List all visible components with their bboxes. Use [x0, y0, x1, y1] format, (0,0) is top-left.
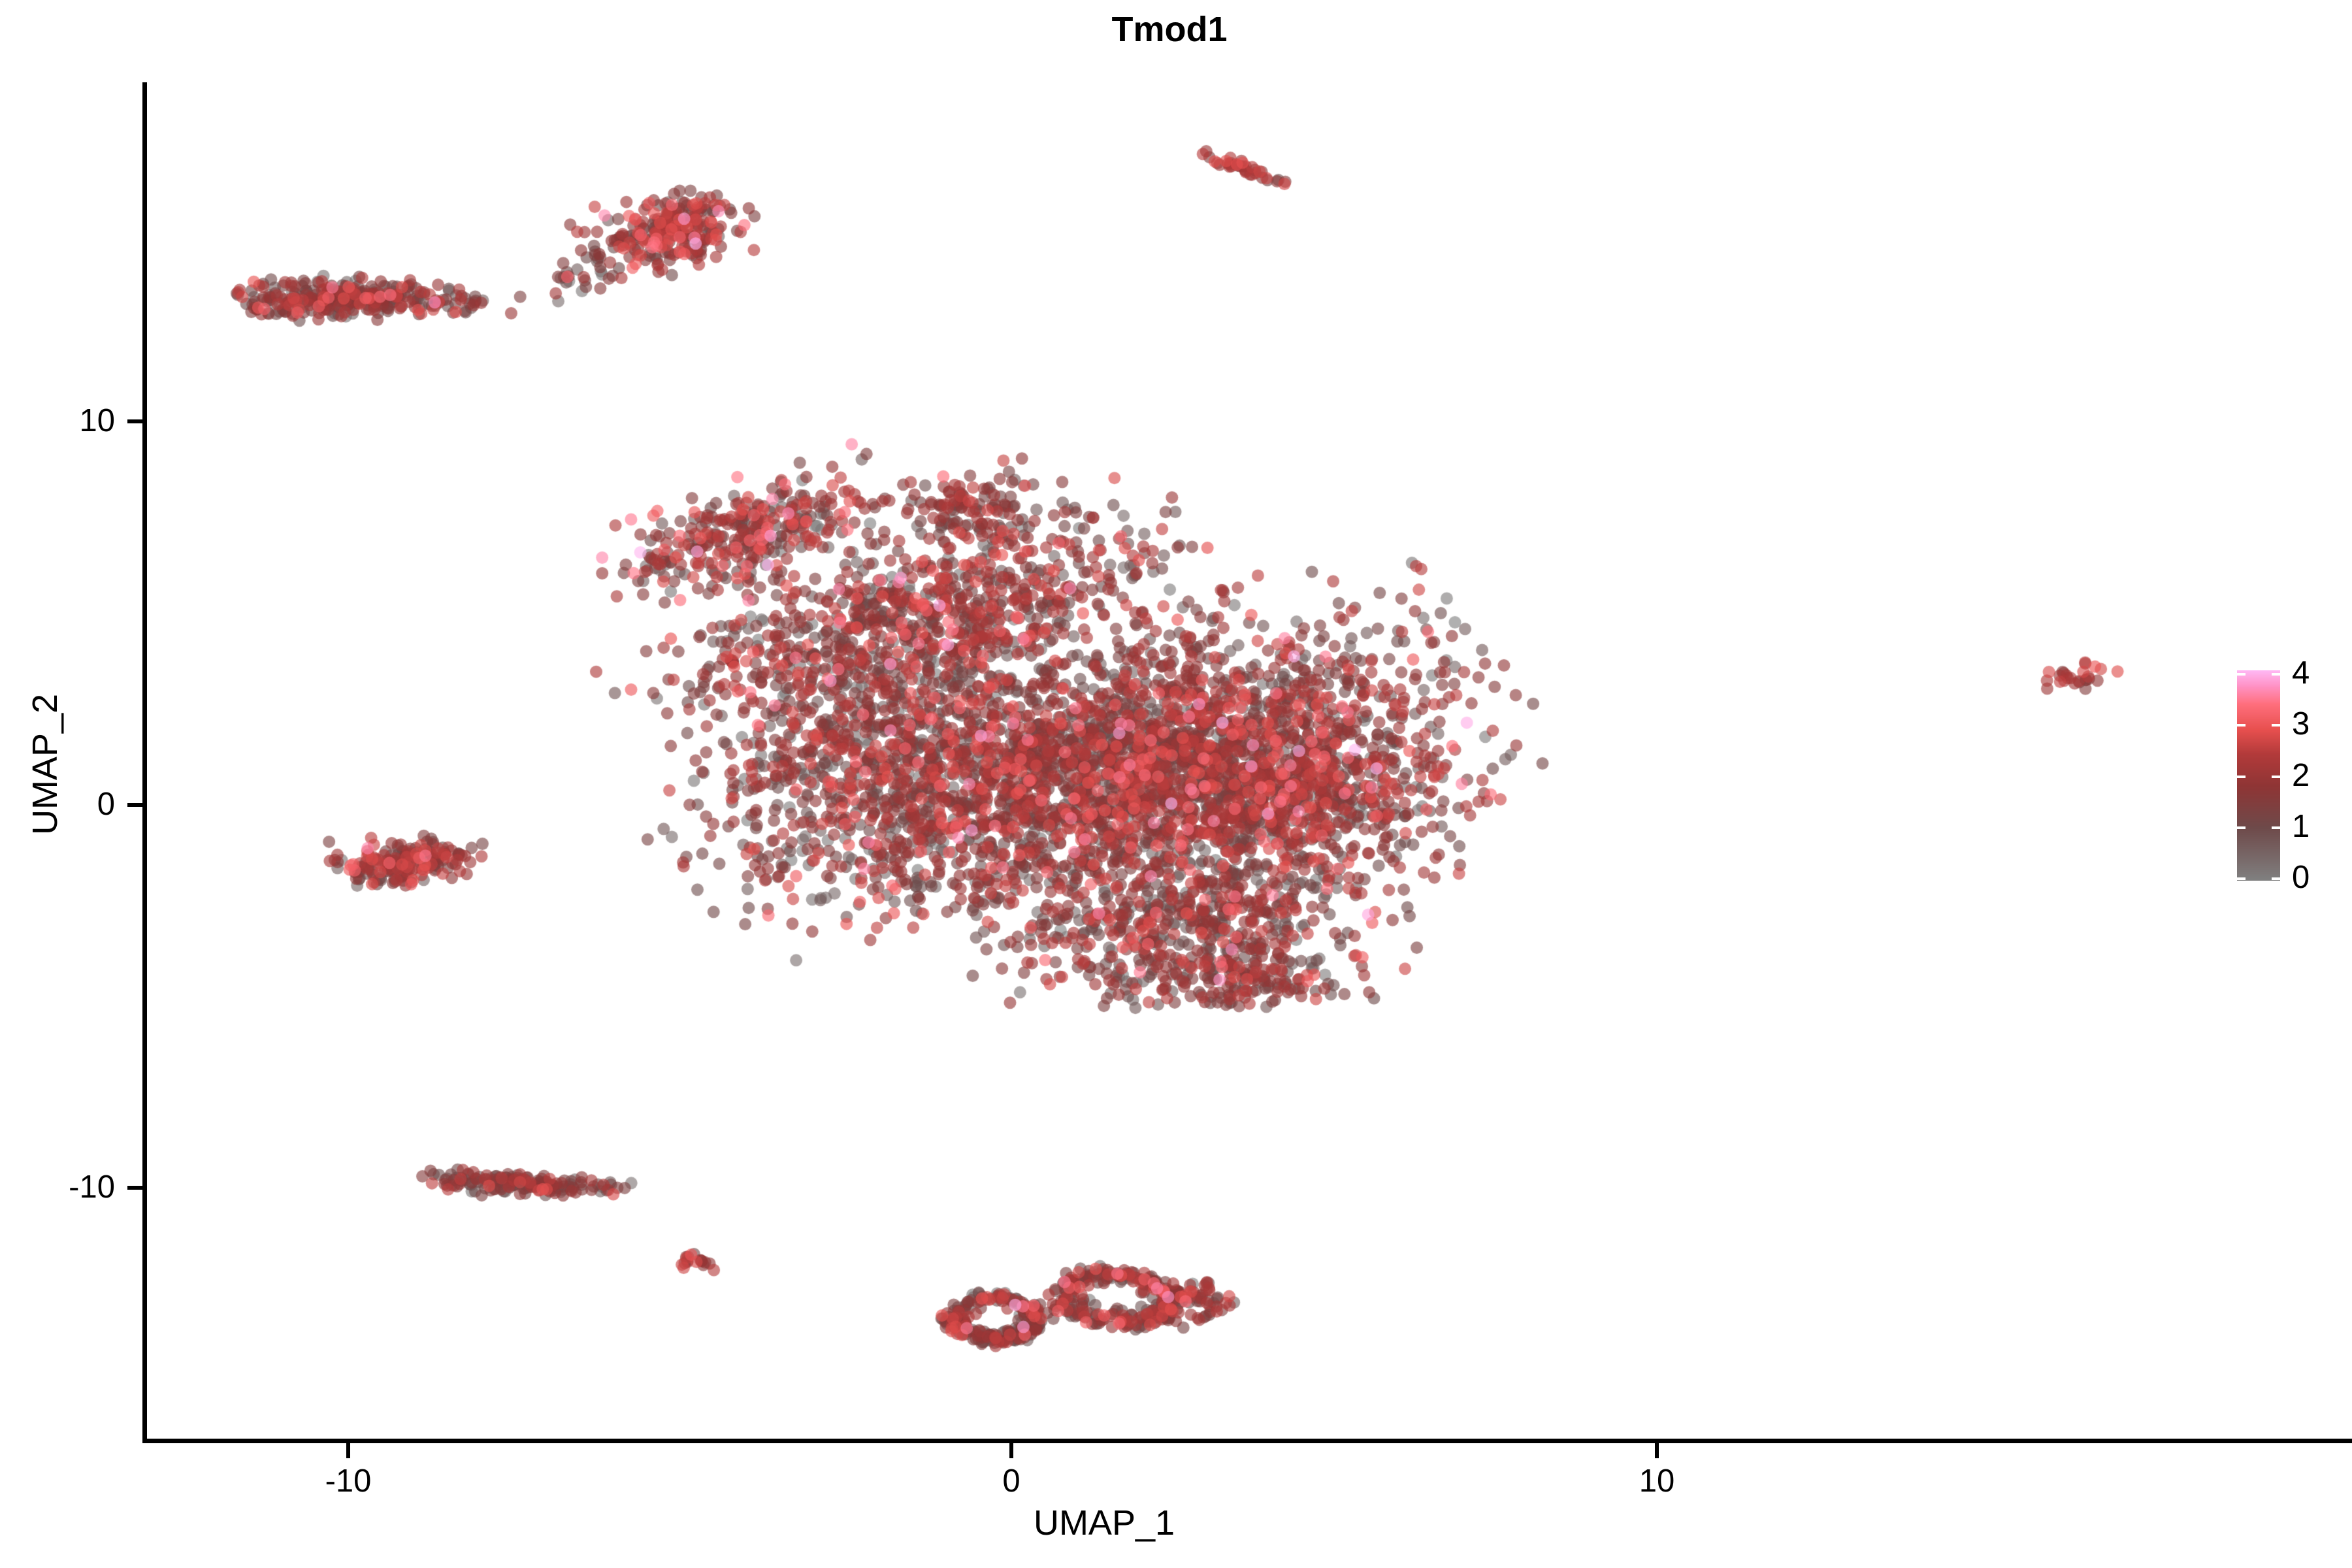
x-axis-tick-0: [1009, 1443, 1013, 1458]
y-axis-tick-neg10: [127, 1186, 142, 1190]
colorbar-tick-4-left: [2237, 673, 2246, 676]
x-axis-ticklabel-10: 10: [1592, 1465, 1722, 1497]
colorbar-tick-3-right: [2272, 724, 2280, 727]
x-axis-ticklabel-0: 0: [946, 1465, 1077, 1497]
x-axis-line: [142, 1439, 2352, 1443]
y-axis-tick-0: [127, 803, 142, 807]
y-axis-ticklabel-10: 10: [4, 405, 115, 437]
x-axis-tick-10: [1655, 1443, 1659, 1458]
figure-canvas: Tmod1 10 0 -10 -10 0 10 UMAP_1 UMAP_2: [0, 0, 2352, 1568]
colorbar-label-4: 4: [2292, 657, 2310, 689]
x-axis-ticklabel-neg10: -10: [283, 1465, 414, 1497]
plot-panel: [145, 84, 2216, 1441]
x-axis-tick-neg10: [346, 1443, 350, 1458]
colorbar-label-0: 0: [2292, 862, 2310, 894]
colorbar-tick-1-right: [2272, 826, 2280, 829]
y-axis-tick-10: [127, 419, 142, 423]
y-axis-line: [142, 82, 147, 1443]
colorbar-tick-2-left: [2237, 776, 2246, 778]
page-title: Tmod1: [0, 9, 2339, 50]
colorbar-tick-3-left: [2237, 724, 2246, 727]
colorbar-tick-2-right: [2272, 776, 2280, 778]
x-axis-title: UMAP_1: [973, 1503, 1235, 1543]
colorbar-tick-0-right: [2272, 877, 2280, 880]
colorbar-tick-0-left: [2237, 877, 2246, 880]
colorbar-label-3: 3: [2292, 708, 2310, 740]
y-axis-title: UMAP_2: [25, 601, 65, 928]
y-axis-ticklabel-neg10: -10: [4, 1171, 115, 1203]
colorbar-tick-4-right: [2272, 673, 2280, 676]
colorbar-tick-1-left: [2237, 826, 2246, 829]
scatter-plot-points: [145, 84, 2216, 1441]
colorbar-label-1: 1: [2292, 811, 2310, 843]
colorbar-legend: 4 3 2 1 0: [2237, 668, 2342, 885]
colorbar-label-2: 2: [2292, 760, 2310, 792]
